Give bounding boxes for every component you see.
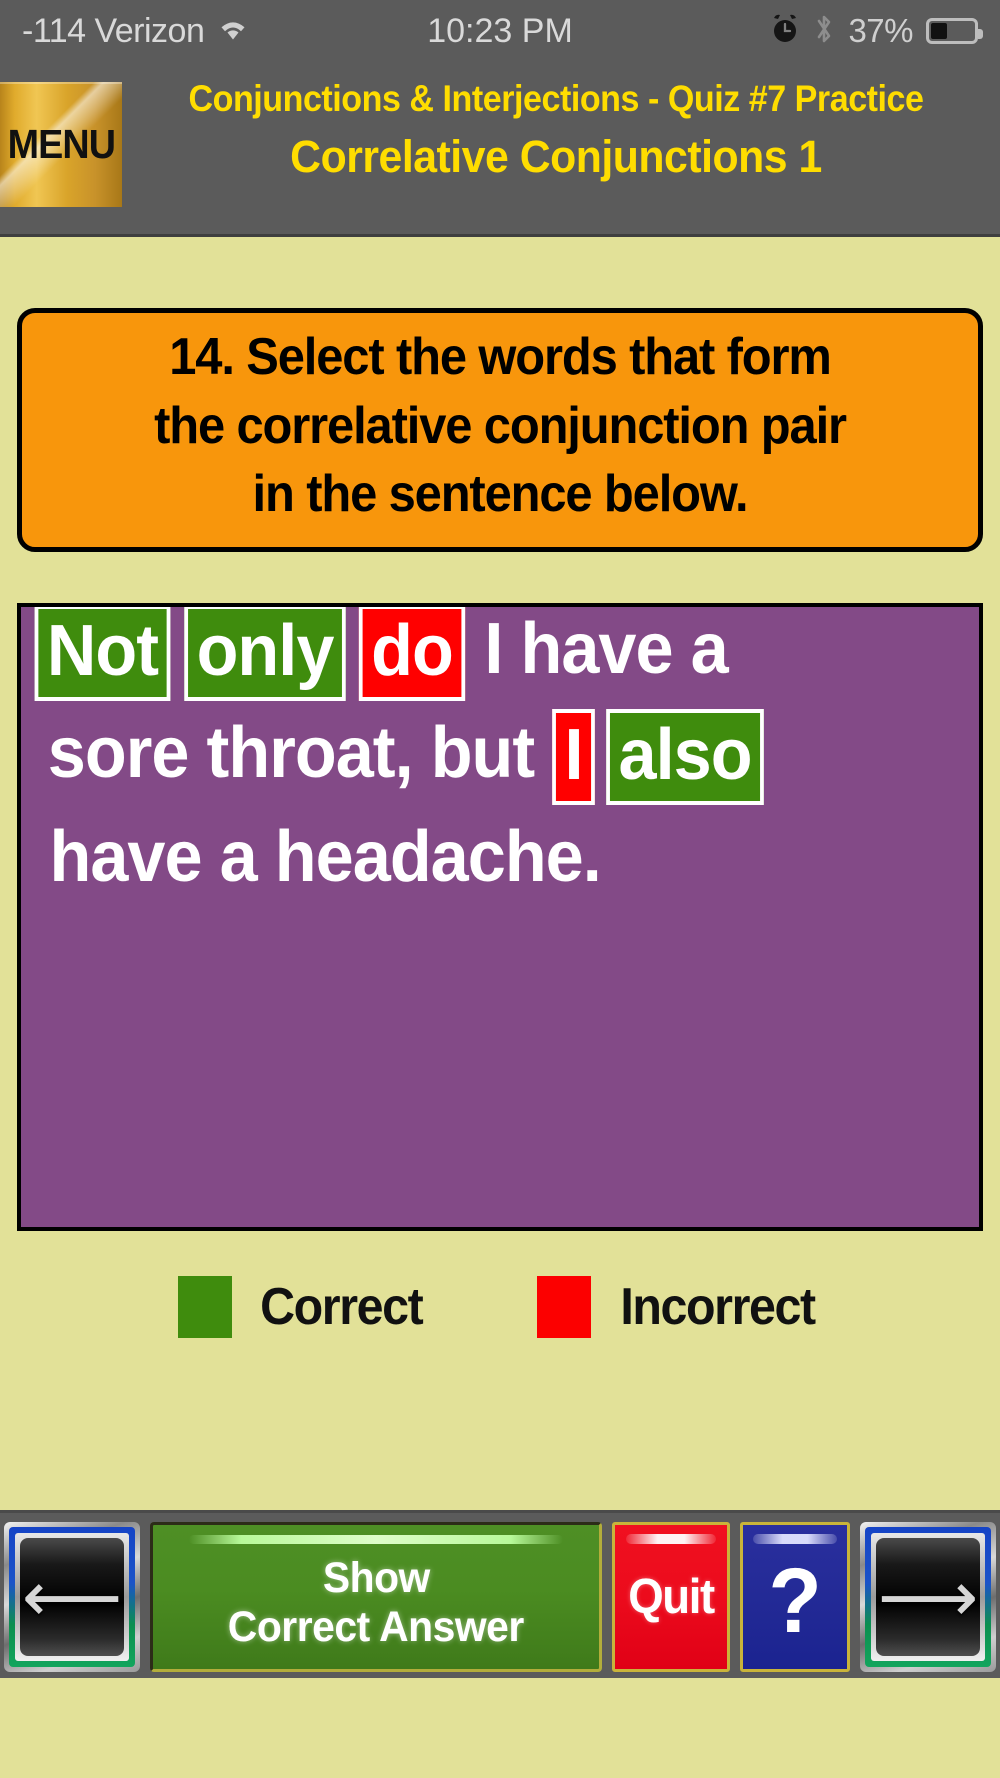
show-answer-label-line2: Correct Answer <box>228 1603 524 1651</box>
sentence-word[interactable]: have a headache. <box>46 813 605 905</box>
sentence-word-selected[interactable]: Not <box>35 605 171 701</box>
sentence-word-selected[interactable]: also <box>606 709 764 805</box>
arrow-right-icon: ⟶ <box>878 1562 978 1632</box>
arrow-left-icon: ⟵ <box>22 1562 122 1632</box>
sentence-word-selected[interactable]: I <box>552 709 595 805</box>
question-line-3: in the sentence below. <box>68 460 933 529</box>
legend-item-correct: Correct <box>178 1276 428 1338</box>
legend: Correct Incorrect <box>0 1276 1000 1338</box>
sentence-word[interactable]: sore throat, but <box>44 709 538 801</box>
menu-button[interactable]: MENU <box>0 82 122 207</box>
page-title: Correlative Conjunctions 1 <box>148 131 965 183</box>
sentence-line: NotonlydoI have a <box>31 605 969 701</box>
show-correct-answer-button[interactable]: Show Correct Answer <box>150 1522 602 1672</box>
question-mark-icon: ? <box>768 1555 821 1647</box>
legend-label-correct: Correct <box>260 1277 422 1337</box>
help-button[interactable]: ? <box>740 1522 850 1672</box>
menu-button-label: MENU <box>7 121 114 168</box>
sentence-word[interactable]: I have a <box>481 605 732 697</box>
bottom-toolbar: ⟵ Show Correct Answer Quit ? ⟶ <box>0 1510 1000 1678</box>
status-bar-left: -114 Verizon <box>22 12 770 51</box>
question-line-1: 14. Select the words that form <box>68 323 933 392</box>
main-content: 14. Select the words that form the corre… <box>0 308 1000 1678</box>
status-bar: -114 Verizon 10:23 PM 37% <box>0 0 1000 62</box>
status-bar-right: 37% <box>770 12 978 51</box>
legend-item-incorrect: Incorrect <box>537 1276 822 1338</box>
show-answer-label-line1: Show <box>322 1554 429 1602</box>
sentence-text: NotonlydoI have asore throat, butIalsoha… <box>21 603 979 905</box>
alarm-clock-icon <box>770 13 800 50</box>
back-button[interactable]: ⟵ <box>4 1522 140 1672</box>
sentence-panel[interactable]: NotonlydoI have asore throat, butIalsoha… <box>17 603 983 1231</box>
sentence-line: have a headache. <box>31 813 969 905</box>
forward-button[interactable]: ⟶ <box>860 1522 996 1672</box>
quiz-subtitle: Conjunctions & Interjections - Quiz #7 P… <box>160 78 951 120</box>
app-header: MENU Conjunctions & Interjections - Quiz… <box>0 62 1000 237</box>
question-line-2: the correlative conjunction pair <box>68 392 933 461</box>
sentence-line: sore throat, butIalso <box>31 709 969 805</box>
battery-icon <box>926 18 978 44</box>
bluetooth-icon <box>813 12 835 51</box>
legend-swatch-correct-icon <box>178 1276 232 1338</box>
battery-percent-label: 37% <box>848 12 913 50</box>
quit-button-label: Quit <box>628 1569 714 1625</box>
sentence-word-selected[interactable]: only <box>184 605 346 701</box>
wifi-icon <box>216 16 250 47</box>
sentence-word-selected[interactable]: do <box>359 605 465 701</box>
carrier-label: -114 Verizon <box>22 12 204 51</box>
header-titles: Conjunctions & Interjections - Quiz #7 P… <box>122 62 1000 183</box>
legend-swatch-incorrect-icon <box>537 1276 591 1338</box>
quit-button[interactable]: Quit <box>612 1522 730 1672</box>
question-panel: 14. Select the words that form the corre… <box>17 308 983 552</box>
legend-label-incorrect: Incorrect <box>620 1277 814 1337</box>
